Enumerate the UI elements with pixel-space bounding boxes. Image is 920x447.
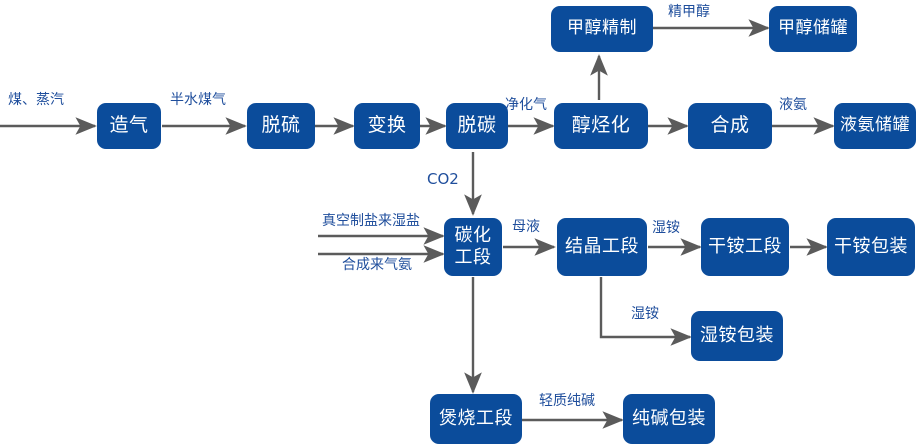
node-yeandanchuguan[interactable]: 液氨储罐 — [834, 103, 916, 149]
edge-label-gas-ammonia: 合成来气氨 — [342, 258, 412, 272]
node-hecheng[interactable]: 合成 — [688, 103, 772, 149]
edge-label-co2: CO2 — [427, 172, 459, 187]
node-gan-an[interactable]: 干铵工段 — [701, 218, 789, 276]
edge-label-wet-salt: 真空制盐来湿盐 — [322, 214, 420, 228]
node-bianhuan[interactable]: 变换 — [354, 103, 420, 149]
edge-label-purified-gas: 净化气 — [505, 98, 547, 112]
edge-label-wet-ammonium-1: 湿铵 — [652, 221, 680, 235]
node-jiejing[interactable]: 结晶工段 — [557, 218, 647, 276]
edge-label-light-soda-ash: 轻质纯碱 — [539, 394, 595, 408]
node-shi-an-bz[interactable]: 湿铵包装 — [691, 311, 783, 361]
edge-label-semi-water-gas: 半水煤气 — [170, 93, 226, 107]
node-chunjian-bz[interactable]: 纯碱包装 — [623, 394, 715, 444]
edge-label-refined-methanol: 精甲醇 — [668, 5, 710, 19]
edge-label-liquid-ammonia: 液氨 — [779, 98, 807, 112]
process-flow-diagram: 造气 脱硫 变换 脱碳 醇烃化 合成 液氨储罐 甲醇精制 甲醇储罐 碳化 工段 … — [0, 0, 920, 447]
node-tanhua[interactable]: 碳化 工段 — [444, 218, 502, 276]
edge-label-wet-ammonium-2: 湿铵 — [631, 307, 659, 321]
edge-label-mother-liquor: 母液 — [512, 220, 540, 234]
node-gan-an-bz[interactable]: 干铵包装 — [827, 218, 915, 276]
node-jiachunjingzhi[interactable]: 甲醇精制 — [551, 6, 653, 52]
node-zaoqi[interactable]: 造气 — [97, 103, 161, 149]
edge-label-coal-steam: 煤、蒸汽 — [8, 93, 64, 107]
node-tuoliu[interactable]: 脱硫 — [247, 103, 315, 149]
node-tuotan[interactable]: 脱碳 — [446, 103, 508, 149]
node-duanshao[interactable]: 煲烧工段 — [430, 394, 522, 444]
node-jiachunchuguan[interactable]: 甲醇储罐 — [769, 6, 857, 52]
node-chunjinghua[interactable]: 醇烃化 — [554, 103, 648, 149]
